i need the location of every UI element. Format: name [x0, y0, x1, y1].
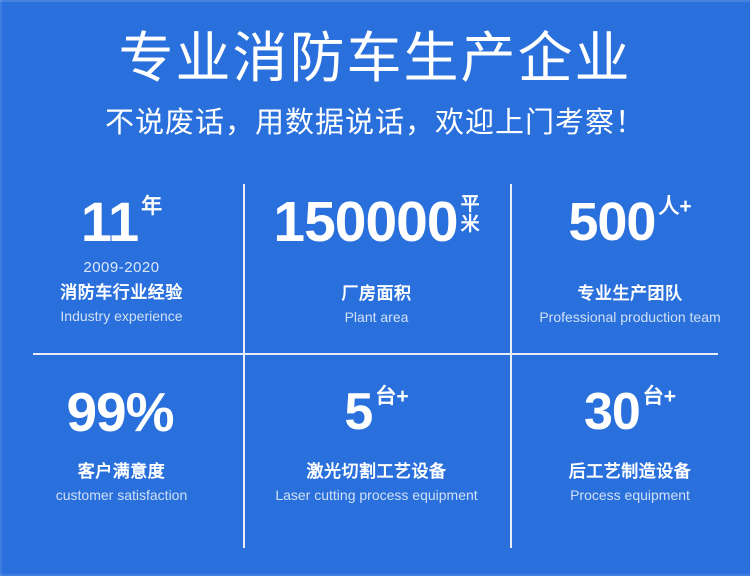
stat-label-cn: 消防车行业经验	[60, 281, 183, 305]
stat-unit: 台+	[375, 386, 408, 408]
stat-unit-stacked: 平 米	[461, 195, 480, 235]
stat-label-cn: 激光切割工艺设备	[307, 460, 447, 484]
stat-value: 11	[81, 192, 138, 252]
stats-grid: 11 年 2009-2020 消防车行业经验 Industry experien…	[0, 184, 750, 548]
stat-unit: 人+	[658, 196, 691, 218]
stat-cell-production-team: 500 人+ 专业生产团队 Professional production te…	[510, 184, 750, 354]
stat-value: 5	[344, 382, 372, 442]
stat-value-row: 11 年	[81, 192, 162, 252]
stat-cell-customer-satisfaction: 99% 客户满意度 customer satisfaction	[0, 354, 243, 548]
stat-value-row: 500 人+	[568, 192, 691, 252]
stat-value: 30	[584, 382, 640, 442]
stat-value: 150000	[273, 192, 457, 252]
stat-value: 500	[568, 192, 655, 252]
page-title: 专业消防车生产企业	[0, 27, 750, 89]
stat-cell-process-equipment: 30 台+ 后工艺制造设备 Process equipment	[510, 354, 750, 548]
stat-unit: 台+	[643, 386, 676, 408]
stat-label-en: Industry experience	[60, 306, 182, 326]
page-subtitle: 不说废话，用数据说话，欢迎上门考察！	[0, 104, 750, 142]
stat-value: 99%	[66, 382, 173, 442]
stat-label-en: customer satisfaction	[56, 485, 188, 505]
top-edge-highlight	[0, 0, 750, 2]
stat-cell-industry-experience: 11 年 2009-2020 消防车行业经验 Industry experien…	[0, 184, 243, 354]
stat-unit-bottom: 米	[461, 215, 480, 235]
stat-value-row: 5 台+	[344, 382, 408, 442]
stat-label-en: Plant area	[345, 307, 409, 327]
stat-unit: 年	[141, 196, 162, 218]
stat-label-en: Process equipment	[570, 485, 690, 505]
stat-cell-laser-cutting: 5 台+ 激光切割工艺设备 Laser cutting process equi…	[243, 354, 510, 548]
promo-banner: 专业消防车生产企业 不说废话，用数据说话，欢迎上门考察！ 11 年 2009-2…	[0, 0, 750, 576]
stat-unit-top: 平	[461, 195, 480, 215]
stat-value-row: 30 台+	[584, 382, 676, 442]
stat-label-cn: 客户满意度	[78, 460, 166, 484]
stat-range: 2009-2020	[83, 258, 159, 278]
stat-label-cn: 专业生产团队	[578, 282, 683, 306]
stat-label-en: Laser cutting process equipment	[275, 485, 477, 505]
stat-label-cn: 厂房面积	[342, 282, 412, 306]
stat-label-cn: 后工艺制造设备	[569, 460, 692, 484]
stat-label-en: Professional production team	[539, 307, 720, 327]
stat-value-row: 99%	[66, 382, 176, 442]
stat-cell-plant-area: 150000 平 米 厂房面积 Plant area	[243, 184, 510, 354]
stat-value-row: 150000 平 米	[273, 192, 479, 252]
